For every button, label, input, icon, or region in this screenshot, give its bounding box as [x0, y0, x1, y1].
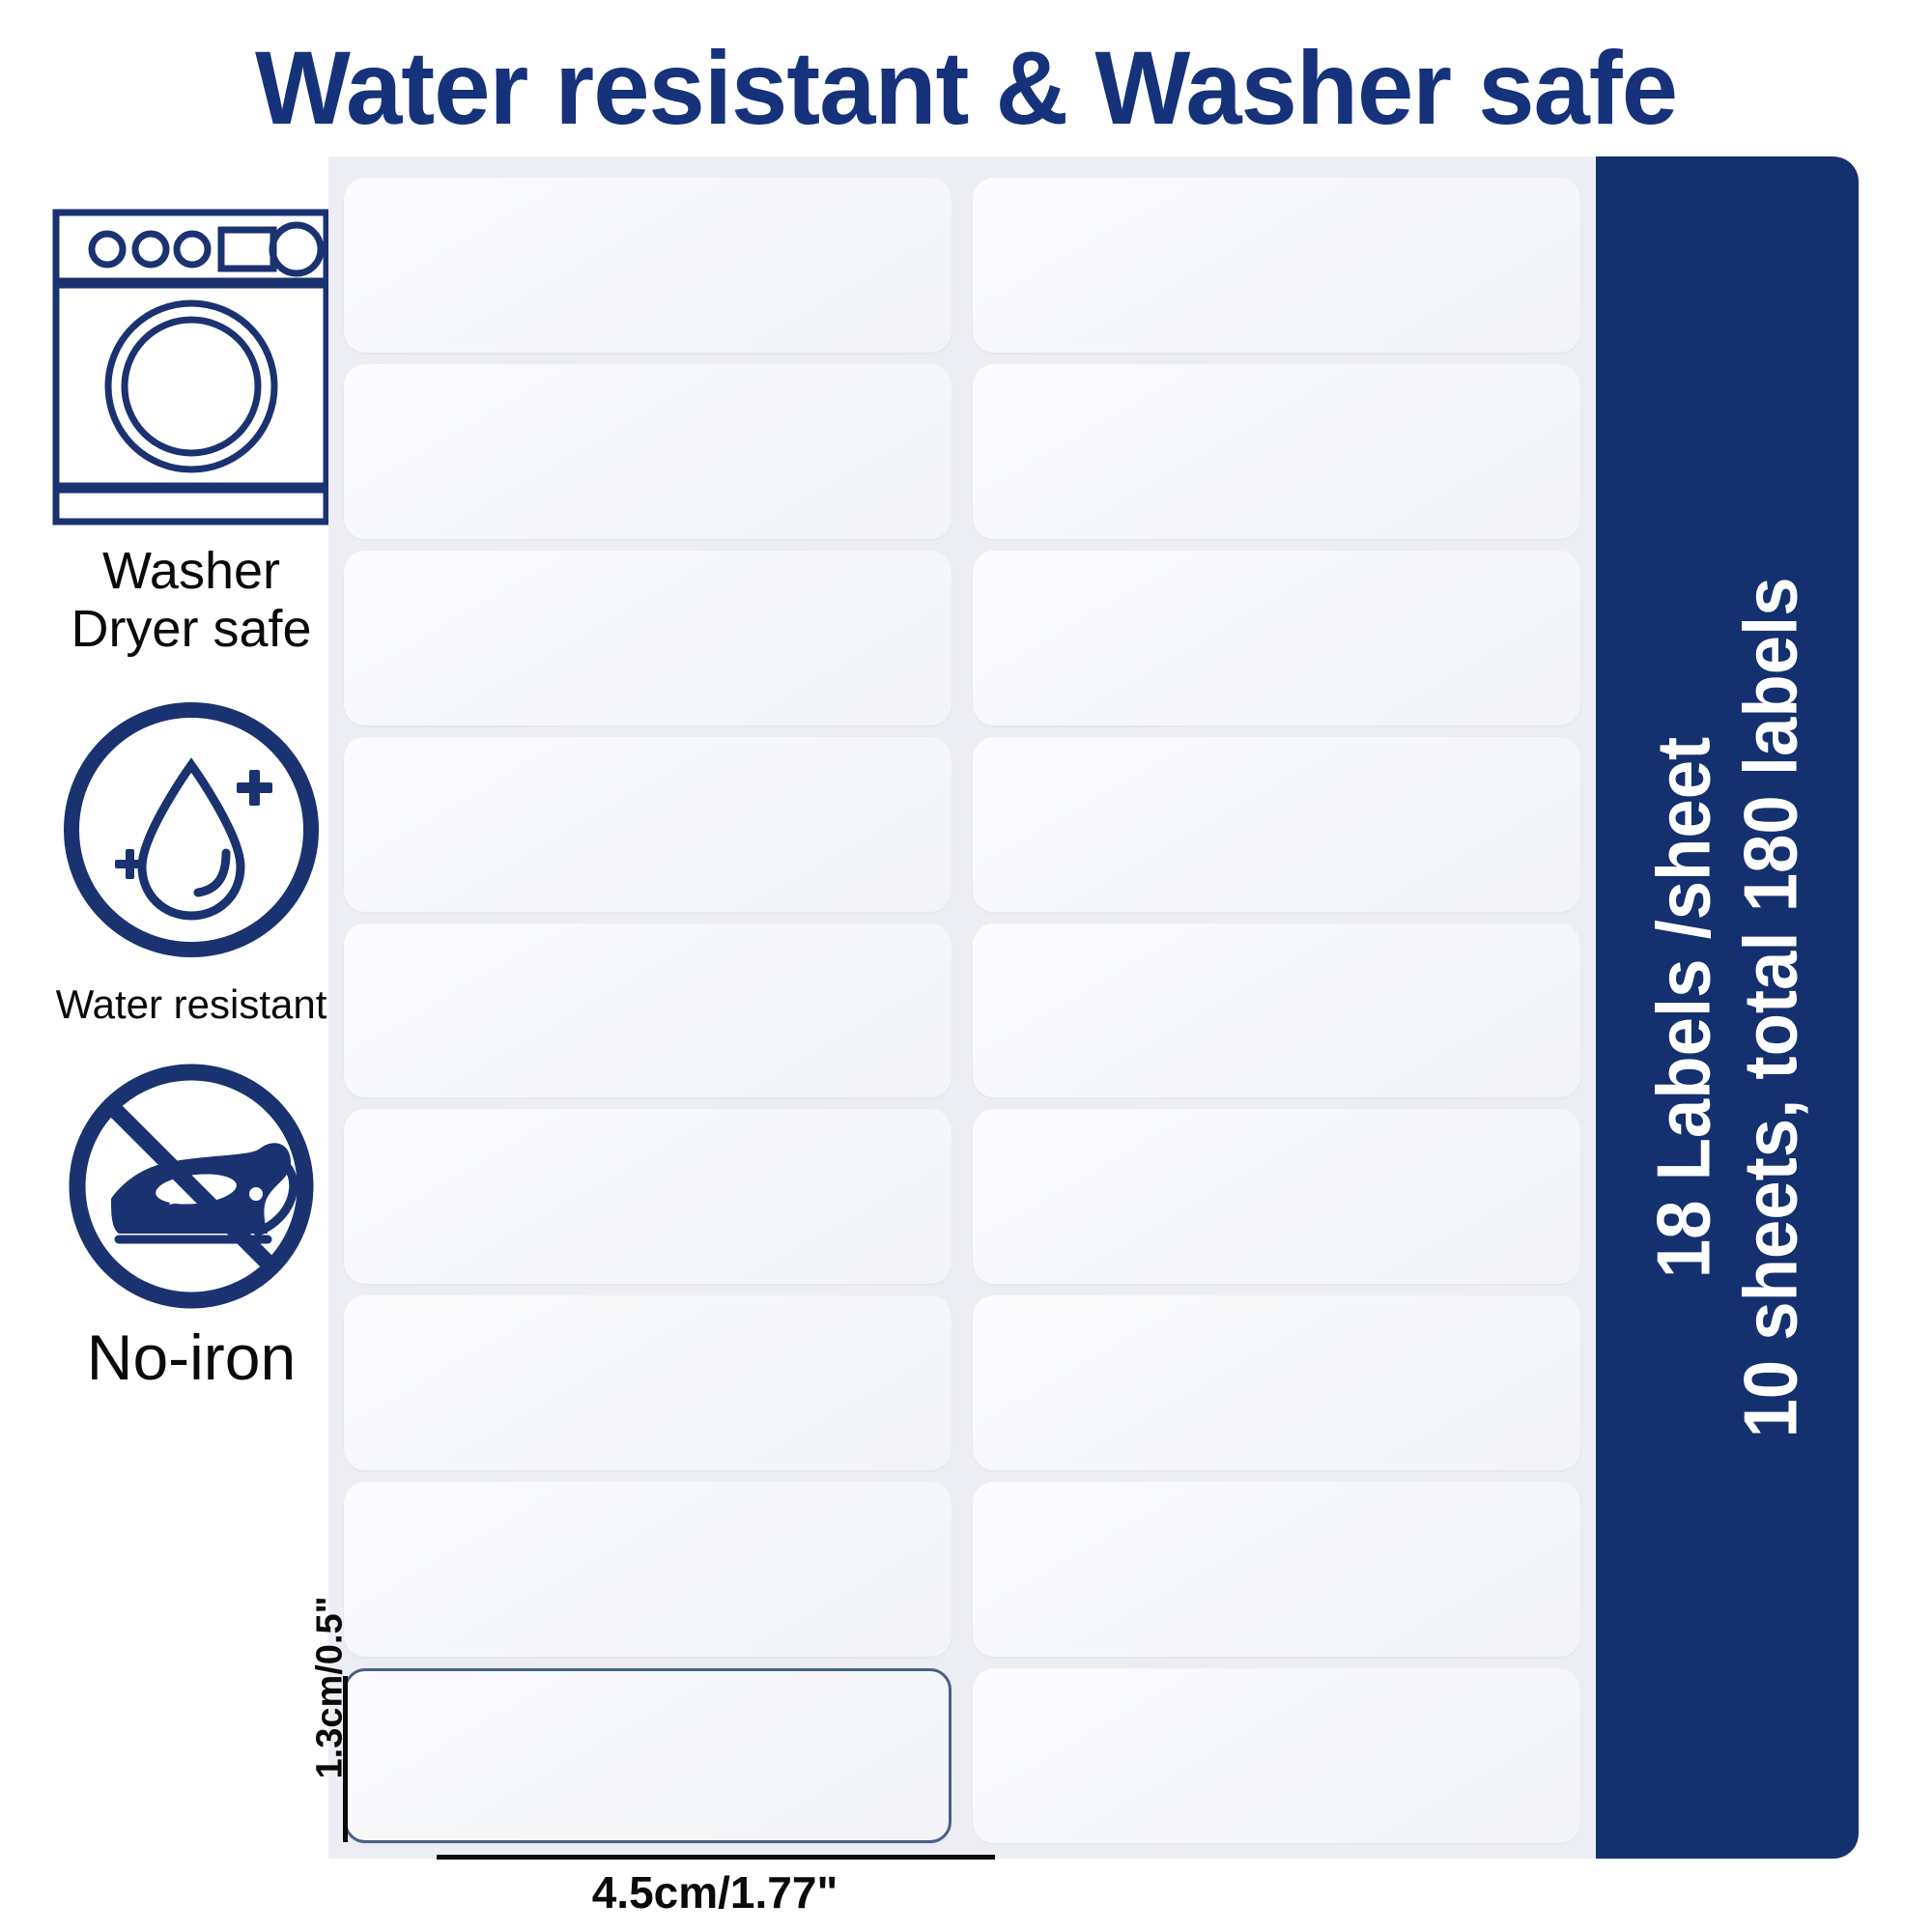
feature-washer-dryer-safe: Washer Dryer safe	[17, 208, 365, 659]
label-cell[interactable]	[344, 1295, 952, 1470]
label-cell[interactable]	[973, 1482, 1580, 1657]
label-cell[interactable]	[973, 178, 1580, 353]
label-cell[interactable]	[344, 1482, 952, 1657]
label-cell[interactable]	[344, 551, 952, 725]
label-cell[interactable]	[973, 1668, 1580, 1843]
label-cell[interactable]	[344, 923, 952, 1098]
width-dimension-line	[437, 1855, 995, 1860]
label-cell[interactable]	[344, 178, 952, 353]
feature-washer-dryer-safe-label: Washer Dryer safe	[17, 542, 365, 659]
label-sheet	[328, 156, 1596, 1859]
label-cell[interactable]	[973, 551, 1580, 725]
height-dimension-label: 1.3cm/0.5"	[310, 1605, 352, 1779]
feature-no-iron-label: No-iron	[17, 1322, 365, 1394]
label-cell[interactable]	[344, 737, 952, 912]
label-cell-highlighted[interactable]	[344, 1668, 952, 1843]
feature-no-iron: No-iron	[17, 1056, 365, 1394]
no-iron-icon	[61, 1056, 322, 1317]
label-grid	[344, 178, 1580, 1843]
label-cell[interactable]	[973, 737, 1580, 912]
page-title: Water resistant & Washer safe	[29, 33, 1903, 142]
feature-water-resistant-label: Water resistant	[17, 981, 365, 1027]
label-cell[interactable]	[344, 364, 952, 539]
label-cell[interactable]	[973, 923, 1580, 1098]
side-info-line-1: 18 Labels /sheet	[1640, 244, 1727, 1772]
label-cell[interactable]	[973, 1109, 1580, 1284]
label-cell[interactable]	[973, 1295, 1580, 1470]
feature-list: Washer Dryer safe Water resistant	[17, 208, 365, 1394]
water-drop-icon	[61, 699, 322, 960]
side-info-panel: 18 Labels /sheet 10 sheets, total 180 la…	[1596, 156, 1859, 1859]
width-dimension-label: 4.5cm/1.77"	[367, 1866, 1063, 1918]
label-cell[interactable]	[973, 364, 1580, 539]
washing-machine-icon	[51, 208, 331, 526]
side-info-line-2: 10 sheets, total 180 labels	[1727, 244, 1814, 1772]
side-info-text: 18 Labels /sheet 10 sheets, total 180 la…	[1640, 186, 1815, 1829]
feature-water-resistant: Water resistant	[17, 699, 365, 1027]
label-cell[interactable]	[344, 1109, 952, 1284]
